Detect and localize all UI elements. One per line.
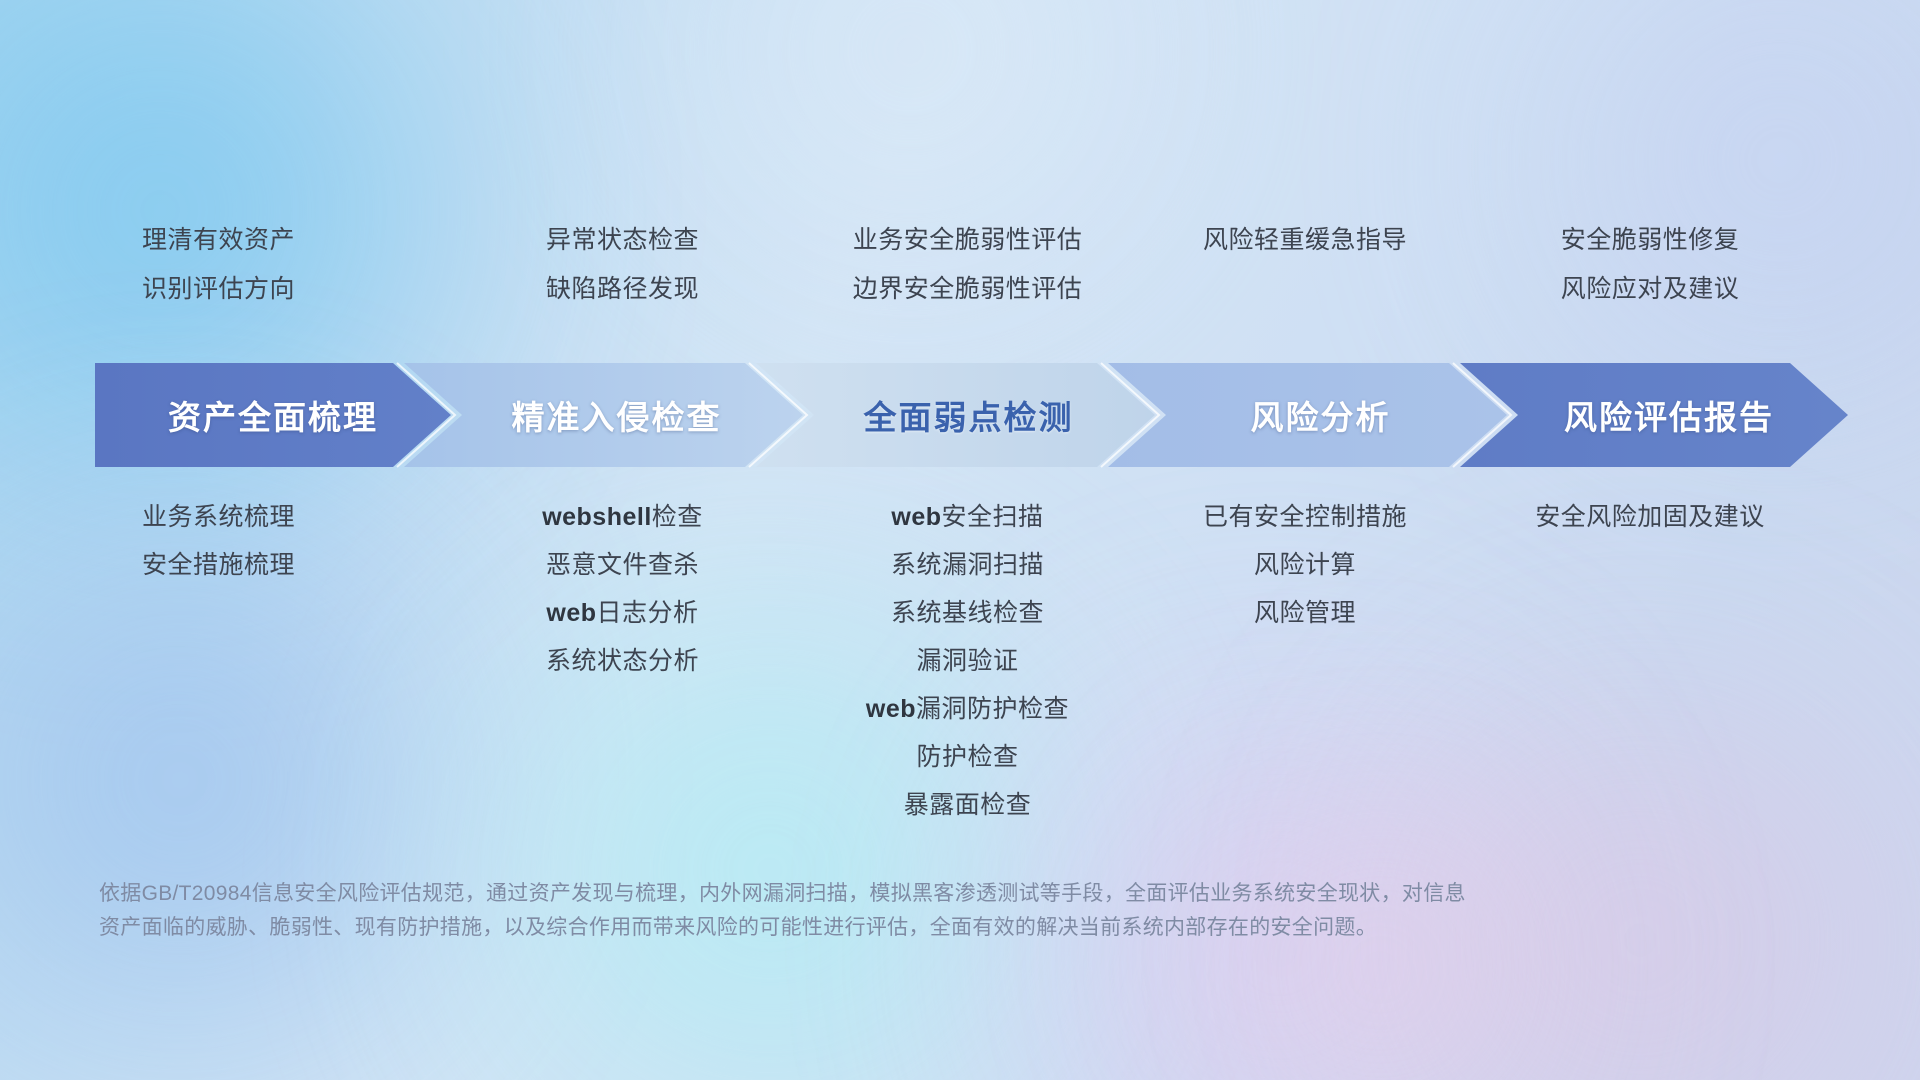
top-item: 安全脆弱性修复 [1561,228,1740,253]
bottom-column-assessment-report: 安全风险加固及建议 [1470,505,1830,553]
bottom-item: web漏洞防护检查 [866,697,1069,722]
bottom-item: 业务系统梳理 [142,505,295,530]
bottom-item: web安全扫描 [891,505,1043,530]
chevron-stage-2 [404,363,803,467]
top-column-asset-inventory: 理清有效资产 识别评估方向 [90,228,450,326]
top-column-weakness-detection: 业务安全脆弱性评估 边界安全脆弱性评估 [795,228,1140,326]
footer-line: 资产面临的威胁、脆弱性、现有防护措施，以及综合作用而带来风险的可能性进行评估，全… [99,911,1659,945]
bottom-item: 系统漏洞扫描 [891,553,1044,578]
footer-description: 依据GB/T20984信息安全风险评估规范，通过资产发现与梳理，内外网漏洞扫描，… [99,877,1659,945]
top-column-assessment-report: 安全脆弱性修复 风险应对及建议 [1470,228,1830,326]
top-item: 边界安全脆弱性评估 [853,277,1083,302]
bottom-item: 安全措施梳理 [142,553,295,578]
top-item: 异常状态检查 [546,228,699,253]
footer-line: 依据GB/T20984信息安全风险评估规范，通过资产发现与梳理，内外网漏洞扫描，… [99,877,1659,911]
bottom-item: web日志分析 [546,601,698,626]
bottom-column-intrusion-check: webshell检查 恶意文件查杀 web日志分析 系统状态分析 [450,505,795,697]
bottom-item: 漏洞验证 [916,649,1018,674]
bottom-item: 安全风险加固及建议 [1535,505,1765,530]
bottom-item: 风险管理 [1254,601,1356,626]
bottom-item: 暴露面检查 [904,793,1032,818]
top-item: 理清有效资产 [142,228,295,253]
bottom-column-weakness-detection: web安全扫描 系统漏洞扫描 系统基线检查 漏洞验证 web漏洞防护检查 防护检… [795,505,1140,841]
bottom-item: 已有安全控制措施 [1203,505,1407,530]
bottom-item: 风险计算 [1254,553,1356,578]
top-column-risk-analysis: 风险轻重缓急指导 [1140,228,1470,277]
bottom-item: 防护检查 [916,745,1018,770]
bottom-annotations-row: 业务系统梳理 安全措施梳理 webshell检查 恶意文件查杀 web日志分析 … [0,505,1920,841]
chevron-stage-4 [1108,363,1507,467]
top-item: 风险应对及建议 [1561,277,1740,302]
top-item: 缺陷路径发现 [546,277,699,302]
top-item: 风险轻重缓急指导 [1203,228,1407,253]
bottom-column-risk-analysis: 已有安全控制措施 风险计算 风险管理 [1140,505,1470,649]
process-chevron-banner: 资产全面梳理 精准入侵检查 全面弱点检测 风险分析 风险评估报告 [0,362,1920,468]
top-item: 业务安全脆弱性评估 [853,228,1083,253]
bottom-column-asset-inventory: 业务系统梳理 安全措施梳理 [90,505,450,601]
bottom-item: 恶意文件查杀 [546,553,699,578]
bottom-item: 系统基线检查 [891,601,1044,626]
top-item: 识别评估方向 [142,277,295,302]
chevron-stage-1 [95,363,451,467]
bottom-item: 系统状态分析 [546,649,699,674]
bottom-item: webshell检查 [542,505,703,530]
chevron-stage-5 [1460,363,1848,467]
top-column-intrusion-check: 异常状态检查 缺陷路径发现 [450,228,795,326]
chevron-stage-3 [756,363,1155,467]
top-annotations-row: 理清有效资产 识别评估方向 异常状态检查 缺陷路径发现 业务安全脆弱性评估 边界… [0,228,1920,326]
